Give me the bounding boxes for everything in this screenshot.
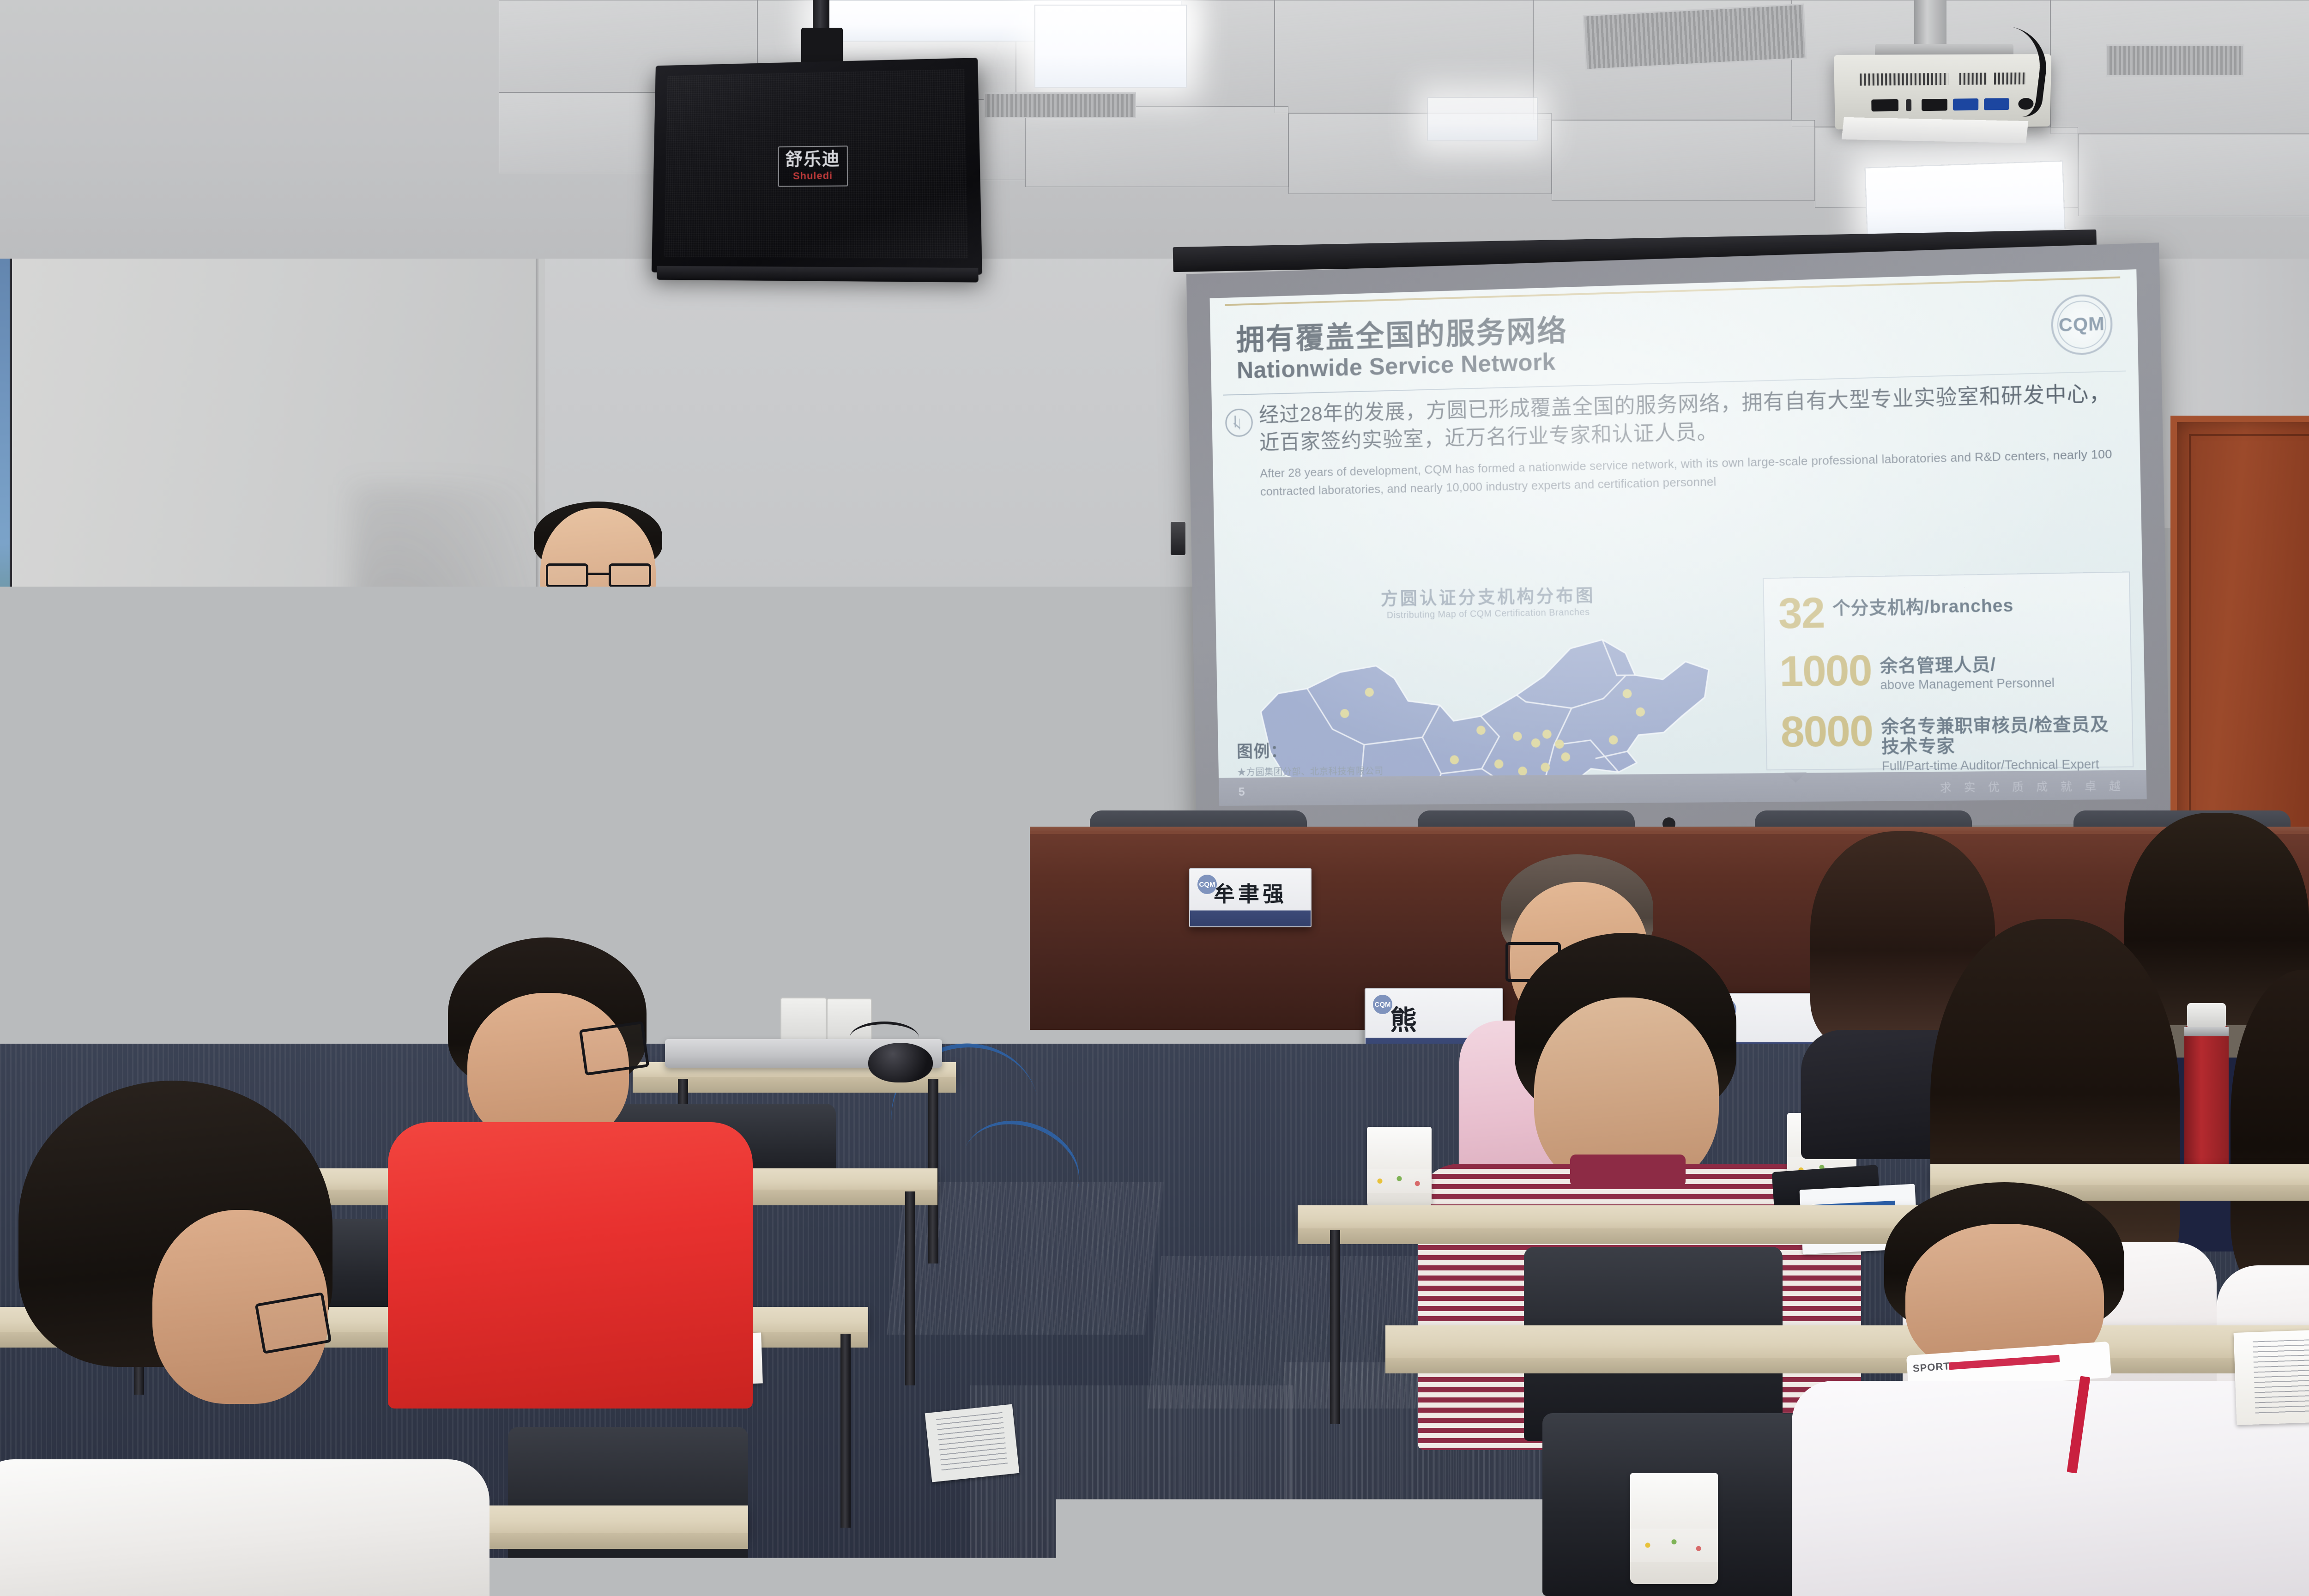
footer-notch xyxy=(1784,773,1807,783)
projector-vent xyxy=(1959,73,1987,85)
slide-tagline: 求 实 优 质 成 就 卓 越 xyxy=(1940,776,2126,794)
stat-management: 1000 余名管理人员/ above Management Personnel xyxy=(1779,647,2118,694)
paper-cup xyxy=(1367,1127,1432,1208)
name-placard: CQM 牟聿强 xyxy=(1189,868,1312,927)
legend-title: 图例： xyxy=(1237,737,1384,762)
projected-slide: 拥有覆盖全国的服务网络 Nationwide Service Network C… xyxy=(1210,269,2147,806)
hvac-vent xyxy=(1583,4,1807,71)
audience-member-sport-polo: SPORT xyxy=(1778,1182,2309,1596)
legend-item: ★方圆集团分部、北京科技有限公司 xyxy=(1237,764,1384,778)
glasses-lens-right xyxy=(609,563,651,587)
framed-picture xyxy=(0,199,12,827)
glasses-icon xyxy=(579,1021,650,1076)
stat-label-cn: 余名管理人员/ xyxy=(1880,654,2054,677)
arrow-bullet-icon xyxy=(1225,408,1253,437)
cqm-logo-icon: CQM xyxy=(1373,995,1392,1014)
power-outlet xyxy=(780,997,827,1042)
cup-pattern xyxy=(1367,1169,1432,1193)
microphone-led-indicator xyxy=(600,623,610,632)
ceiling-light xyxy=(1865,161,2066,237)
audience-member-white-shirt xyxy=(0,1081,485,1596)
polo-collar xyxy=(1570,1155,1686,1187)
cup-pattern xyxy=(1630,1529,1718,1562)
stat-auditors: 8000 余名专兼职审核员/检查员及技术专家 Full/Part-time Au… xyxy=(1780,709,2120,775)
classroom-presentation-photo: 舒乐迪 Shuledi 拥有覆盖全国的服务网络 Nationwide Servi… xyxy=(0,0,2309,1596)
glasses-icon xyxy=(546,563,651,587)
stat-number: 8000 xyxy=(1780,712,1873,752)
stat-label-en: above Management Personnel xyxy=(1880,676,2055,693)
projector-vent xyxy=(1860,73,1948,86)
stat-number: 1000 xyxy=(1779,651,1872,691)
slide-body: 经过28年的发展，方圆已形成覆盖全国的服务网络，拥有自有大型专业实验室和研发中心… xyxy=(1225,379,2126,502)
person-shirt-white xyxy=(0,1459,490,1596)
desk-leg xyxy=(905,1191,915,1385)
slide-page-number: 5 xyxy=(1238,785,1245,798)
paper-cup xyxy=(1630,1473,1718,1584)
thermos-bottle xyxy=(2184,1025,2229,1182)
slide-lower-section: 方圆认证分支机构分布图 Distributing Map of CQM Cert… xyxy=(1227,571,2134,775)
podium-microphone-head xyxy=(595,598,623,627)
stat-branches: 32 个分支机构/branches xyxy=(1778,589,2117,634)
desk-leg xyxy=(1330,1230,1340,1424)
wall-sensor xyxy=(1171,522,1185,555)
speaker-lip xyxy=(657,266,979,283)
carpet-tile xyxy=(970,1385,1293,1561)
speaker-brand-en: Shuledi xyxy=(785,169,840,182)
thermos-ring xyxy=(2184,1027,2229,1036)
paper-under-projector xyxy=(1842,117,2028,143)
paper-text-lines xyxy=(2253,1337,2309,1415)
thermos-cap xyxy=(2187,1003,2226,1027)
ceiling-tile xyxy=(2078,134,2309,216)
handout-paper xyxy=(2234,1327,2309,1425)
stat-label-cn: 个分支机构/branches xyxy=(1832,596,2014,619)
ceiling-tile xyxy=(1025,106,1288,187)
projector-port xyxy=(1871,99,1898,112)
slide-header: 拥有覆盖全国的服务网络 Nationwide Service Network C… xyxy=(1225,282,2122,388)
glasses-bridge xyxy=(588,573,609,575)
glasses-lens-left xyxy=(546,563,588,587)
desk-leg xyxy=(840,1334,851,1528)
projector-port xyxy=(1922,99,1947,111)
ceiling-speaker: 舒乐迪 Shuledi xyxy=(652,58,982,275)
ceiling-light xyxy=(1034,5,1187,88)
ceiling-light xyxy=(1427,97,1538,141)
projector-vga-port xyxy=(1953,98,1978,110)
slide-content: 拥有覆盖全国的服务网络 Nationwide Service Network C… xyxy=(1210,269,2147,806)
speaker-brand-logo: 舒乐迪 Shuledi xyxy=(778,145,848,187)
cqm-logo-icon: CQM xyxy=(1197,875,1217,894)
ceiling-tile xyxy=(1552,120,1815,201)
person-shirt-white-polo xyxy=(1792,1381,2309,1596)
placard-name: 牟聿强 xyxy=(1214,877,1287,908)
paper-on-floor xyxy=(925,1404,1020,1482)
stat-label-cn: 余名专兼职审核员/检查员及技术专家 xyxy=(1881,714,2120,758)
stat-number: 32 xyxy=(1778,593,1825,634)
logo-ring xyxy=(2057,300,2107,349)
projector-port xyxy=(1906,99,1911,111)
map-column: 方圆认证分支机构分布图 Distributing Map of CQM Cert… xyxy=(1227,578,1757,775)
ceiling-tile xyxy=(1275,0,1533,113)
hvac-vent xyxy=(984,92,1136,118)
paper-text-lines xyxy=(936,1412,1008,1474)
speaker-brand-cn: 舒乐迪 xyxy=(786,151,840,169)
hvac-vent xyxy=(2106,44,2244,77)
statistics-panel: 32 个分支机构/branches 1000 余名管理人员/ above Man… xyxy=(1763,571,2134,770)
projection-screen: 拥有覆盖全国的服务网络 Nationwide Service Network C… xyxy=(1186,242,2170,829)
mouse-cord xyxy=(850,1022,919,1054)
